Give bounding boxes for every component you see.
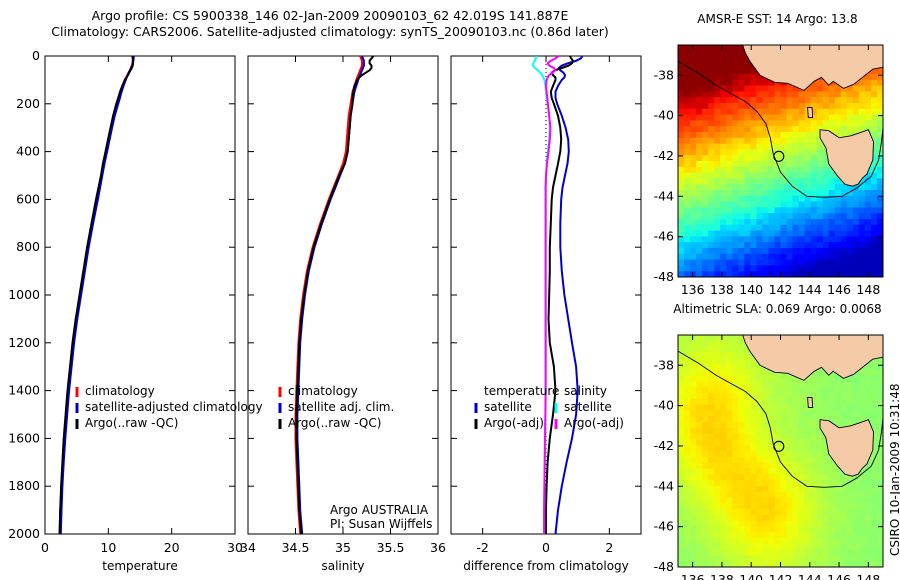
map-cell <box>799 149 806 155</box>
map-cell <box>835 381 842 387</box>
map-cell <box>678 213 685 219</box>
map-cell <box>787 149 794 155</box>
map-cell <box>774 422 781 428</box>
map-cell <box>829 207 836 213</box>
map-cell <box>720 410 727 416</box>
map-cell <box>762 497 769 503</box>
map-cell <box>865 86 872 92</box>
map-cell <box>756 439 763 445</box>
map-cell <box>781 544 788 550</box>
map-cell <box>738 144 745 150</box>
map-cell <box>720 370 727 376</box>
map-cell <box>841 109 848 115</box>
map-cell <box>774 242 781 248</box>
map-cell <box>853 231 860 237</box>
map-cell <box>829 474 836 480</box>
map-cell <box>762 219 769 225</box>
map-cell <box>841 207 848 213</box>
map-cell <box>690 474 697 480</box>
map-cell <box>799 178 806 184</box>
map-cell <box>732 126 739 132</box>
map-cell <box>732 538 739 544</box>
map-cell <box>714 225 721 231</box>
map-cell <box>702 428 709 434</box>
map-cell <box>787 219 794 225</box>
map-cell <box>720 474 727 480</box>
map-cell <box>841 544 848 550</box>
map-cell <box>762 532 769 538</box>
map-cell <box>726 399 733 405</box>
map-cell <box>696 202 703 208</box>
map-cell <box>805 144 812 150</box>
map-cell <box>678 219 685 225</box>
map-cell <box>696 492 703 498</box>
map-cell <box>768 161 775 167</box>
map-cell <box>811 509 818 515</box>
map-cell <box>714 352 721 358</box>
map-cell <box>793 225 800 231</box>
map-cell <box>859 231 866 237</box>
map-cell <box>750 399 757 405</box>
map-cell <box>865 538 872 544</box>
map-cell <box>781 97 788 103</box>
map-cell <box>720 335 727 341</box>
map-cell <box>787 439 794 445</box>
map-cell <box>708 550 715 556</box>
map-cell <box>744 515 751 521</box>
map-cell <box>738 376 745 382</box>
map-cell <box>811 184 818 190</box>
map-cell <box>793 120 800 126</box>
map-cell <box>871 376 878 382</box>
map-cell <box>787 265 794 271</box>
map-cell <box>768 480 775 486</box>
map-cell <box>696 457 703 463</box>
map-cell <box>744 364 751 370</box>
map-cell <box>738 173 745 179</box>
map-cell <box>750 538 757 544</box>
map-cell <box>793 492 800 498</box>
map-cell <box>793 393 800 399</box>
map-cell <box>793 428 800 434</box>
map-cell <box>696 532 703 538</box>
map-cell <box>799 399 806 405</box>
map-cell <box>865 370 872 376</box>
map-cell <box>696 347 703 353</box>
map-cell <box>750 376 757 382</box>
map-cell <box>702 260 709 266</box>
map-cell <box>805 538 812 544</box>
map-cell <box>768 167 775 173</box>
x-tick-label: 2 <box>605 540 613 555</box>
map-cell <box>690 202 697 208</box>
map-cell <box>756 381 763 387</box>
map-cell <box>744 242 751 248</box>
map-cell <box>835 120 842 126</box>
map-cell <box>690 370 697 376</box>
map-cell <box>696 550 703 556</box>
map-cell <box>835 521 842 527</box>
map-cell <box>708 51 715 57</box>
map-cell <box>720 254 727 260</box>
map-cell <box>835 254 842 260</box>
map-cell <box>817 109 824 115</box>
map-cell <box>714 254 721 260</box>
map-cell <box>793 126 800 132</box>
map-cell <box>787 434 794 440</box>
map-cell <box>678 254 685 260</box>
map-cell <box>853 248 860 254</box>
map-cell <box>823 555 830 561</box>
map-cell <box>684 521 691 527</box>
map-cell <box>684 463 691 469</box>
map-cell <box>859 405 866 411</box>
map-cell <box>714 97 721 103</box>
series-line-satellite-adj-clim- <box>297 56 364 534</box>
map-cell <box>708 376 715 382</box>
map-cell <box>678 434 685 440</box>
map-cell <box>714 103 721 109</box>
map-cell <box>859 115 866 121</box>
map-cell <box>859 544 866 550</box>
map-cell <box>859 410 866 416</box>
map-cell <box>708 341 715 347</box>
map-cell <box>744 532 751 538</box>
map-cell <box>781 532 788 538</box>
map-cell <box>793 515 800 521</box>
map-cell <box>732 173 739 179</box>
map-cell <box>762 509 769 515</box>
map-cell <box>793 381 800 387</box>
map-cell <box>696 91 703 97</box>
map-cell <box>817 474 824 480</box>
map-cell <box>835 405 842 411</box>
map-cell <box>702 387 709 393</box>
map-cell <box>871 393 878 399</box>
map-cell <box>799 144 806 150</box>
map-cell <box>726 358 733 364</box>
map-cell <box>793 144 800 150</box>
map-cell <box>817 393 824 399</box>
map-cell <box>762 138 769 144</box>
map-cell <box>768 213 775 219</box>
map-cell <box>702 68 709 74</box>
map-cell <box>805 463 812 469</box>
map-cell <box>750 144 757 150</box>
map-cell <box>732 155 739 161</box>
map-cell <box>756 416 763 422</box>
map-cell <box>774 393 781 399</box>
map-cell <box>690 91 697 97</box>
map-cell <box>768 103 775 109</box>
map-cell <box>756 393 763 399</box>
map-cell <box>702 509 709 515</box>
map-cell <box>805 173 812 179</box>
map-cell <box>787 550 794 556</box>
map-cell <box>738 242 745 248</box>
map-cell <box>853 393 860 399</box>
map-cell <box>841 503 848 509</box>
map-cell <box>756 410 763 416</box>
map-cell <box>805 387 812 393</box>
map-cell <box>871 550 878 556</box>
map-cell <box>744 492 751 498</box>
map-cell <box>762 439 769 445</box>
map-cell <box>823 178 830 184</box>
map-cell <box>750 364 757 370</box>
map-cell <box>732 109 739 115</box>
map-cell <box>787 161 794 167</box>
map-cell <box>799 265 806 271</box>
map-cell <box>702 434 709 440</box>
map-cell <box>744 184 751 190</box>
map-cell <box>690 161 697 167</box>
map-cell <box>847 242 854 248</box>
map-cell <box>829 225 836 231</box>
map-cell <box>774 86 781 92</box>
map-cell <box>696 213 703 219</box>
map-cell <box>708 457 715 463</box>
map-cell <box>805 149 812 155</box>
map-cell <box>799 236 806 242</box>
map-cell <box>847 399 854 405</box>
map-cell <box>817 103 824 109</box>
map-cell <box>835 219 842 225</box>
map-cell <box>793 463 800 469</box>
map-cell <box>774 486 781 492</box>
map-cell <box>720 149 727 155</box>
map-cell <box>853 219 860 225</box>
map-cell <box>744 399 751 405</box>
map-cell <box>756 86 763 92</box>
map-cell <box>678 45 685 51</box>
map-cell <box>829 555 836 561</box>
map-cell <box>811 544 818 550</box>
map-cell <box>865 509 872 515</box>
map-cell <box>762 149 769 155</box>
map-cell <box>853 515 860 521</box>
map-cell <box>787 387 794 393</box>
map-cell <box>793 97 800 103</box>
map-cell <box>774 196 781 202</box>
y-tick-label: 1000 <box>8 287 40 302</box>
map-cell <box>744 451 751 457</box>
map-cell <box>805 416 812 422</box>
map-cell <box>823 492 830 498</box>
map-cell <box>823 515 830 521</box>
map-cell <box>793 410 800 416</box>
map-cell <box>762 463 769 469</box>
map-cell <box>756 370 763 376</box>
map-cell <box>853 260 860 266</box>
map-cell <box>690 103 697 109</box>
map-cell <box>684 474 691 480</box>
map-cell <box>714 196 721 202</box>
map-cell <box>793 231 800 237</box>
map-cell <box>684 103 691 109</box>
map-cell <box>768 497 775 503</box>
map-cell <box>744 486 751 492</box>
map-cell <box>853 115 860 121</box>
map-cell <box>738 68 745 74</box>
map-cell <box>859 254 866 260</box>
map-cell <box>793 457 800 463</box>
map-cell <box>859 393 866 399</box>
map-cell <box>708 202 715 208</box>
map-cell <box>799 219 806 225</box>
map-cell <box>799 126 806 132</box>
map-cell <box>871 463 878 469</box>
map-cell <box>805 422 812 428</box>
map-cell <box>720 451 727 457</box>
map-cell <box>690 213 697 219</box>
map-cell <box>859 196 866 202</box>
map-cell <box>817 509 824 515</box>
map-cell <box>768 120 775 126</box>
map-cell <box>768 387 775 393</box>
map-cell <box>756 126 763 132</box>
map-cell <box>702 225 709 231</box>
map-cell <box>738 161 745 167</box>
map-cell <box>841 248 848 254</box>
map-cell <box>811 538 818 544</box>
map-cell <box>829 381 836 387</box>
map-cell <box>690 219 697 225</box>
map-cell <box>847 236 854 242</box>
map-cell <box>781 196 788 202</box>
map-cell <box>738 62 745 68</box>
map-cell <box>744 416 751 422</box>
map-cell <box>793 521 800 527</box>
x-tick-label: -2 <box>476 540 488 555</box>
map-cell <box>696 503 703 509</box>
map-cell <box>678 231 685 237</box>
y-tick-label: 800 <box>16 239 40 254</box>
map-cell <box>726 138 733 144</box>
map-cell <box>811 91 818 97</box>
map-cell <box>738 445 745 451</box>
map-cell <box>738 132 745 138</box>
map-cell <box>708 231 715 237</box>
map-cell <box>714 167 721 173</box>
map-cell <box>750 434 757 440</box>
map-cell <box>756 376 763 382</box>
map-cell <box>817 503 824 509</box>
map-cell <box>835 225 842 231</box>
map-cell <box>714 80 721 86</box>
map-cell <box>702 45 709 51</box>
map-cell <box>690 550 697 556</box>
map-cell <box>811 503 818 509</box>
map-cell <box>871 410 878 416</box>
map-cell <box>871 213 878 219</box>
map-cell <box>787 91 794 97</box>
map-cell <box>720 503 727 509</box>
figure-canvas: Argo profile: CS 5900338_146 02-Jan-2009… <box>0 0 900 580</box>
x-tick-label: 34.5 <box>282 540 310 555</box>
map-cell <box>793 555 800 561</box>
map-cell <box>829 115 836 121</box>
map-cell <box>871 202 878 208</box>
map-cell <box>702 231 709 237</box>
map-x-tick-label: 142 <box>769 282 793 297</box>
map-cell <box>702 492 709 498</box>
map-cell <box>714 341 721 347</box>
map-cell <box>726 213 733 219</box>
map-cell <box>732 428 739 434</box>
map-cell <box>847 260 854 266</box>
map-cell <box>756 91 763 97</box>
map-cell <box>702 526 709 532</box>
map-cell <box>774 225 781 231</box>
map-cell <box>817 120 824 126</box>
map-cell <box>720 532 727 538</box>
map-cell <box>865 550 872 556</box>
legend-label: Argo(-adj) <box>564 416 624 430</box>
map-cell <box>823 219 830 225</box>
map-cell <box>817 457 824 463</box>
map-cell <box>768 91 775 97</box>
map-cell <box>817 387 824 393</box>
map-cell <box>690 439 697 445</box>
map-cell <box>714 405 721 411</box>
map-cell <box>690 265 697 271</box>
map-cell <box>720 405 727 411</box>
map-cell <box>690 184 697 190</box>
map-cell <box>720 352 727 358</box>
map-cell <box>750 532 757 538</box>
map-cell <box>726 439 733 445</box>
map-cell <box>871 532 878 538</box>
map-cell <box>781 242 788 248</box>
map-cell <box>871 492 878 498</box>
map-cell <box>708 515 715 521</box>
map-cell <box>823 248 830 254</box>
map-cell <box>762 213 769 219</box>
map-cell <box>847 387 854 393</box>
map-cell <box>744 468 751 474</box>
map-cell <box>708 416 715 422</box>
map-cell <box>762 550 769 556</box>
map-cell <box>823 97 830 103</box>
map-cell <box>702 405 709 411</box>
map-cell <box>738 486 745 492</box>
map-cell <box>787 497 794 503</box>
map-cell <box>684 503 691 509</box>
map-cell <box>774 463 781 469</box>
map-cell <box>811 178 818 184</box>
map-cell <box>678 393 685 399</box>
map-cell <box>768 254 775 260</box>
map-cell <box>750 480 757 486</box>
map-cell <box>811 451 818 457</box>
map-cell <box>726 364 733 370</box>
map-cell <box>829 265 836 271</box>
map-cell <box>714 480 721 486</box>
map-cell <box>811 381 818 387</box>
map-cell <box>781 115 788 121</box>
map-cell <box>805 526 812 532</box>
map-cell <box>696 544 703 550</box>
map-cell <box>744 97 751 103</box>
map-cell <box>720 544 727 550</box>
map-cell <box>768 219 775 225</box>
map-cell <box>787 416 794 422</box>
map-cell <box>781 550 788 556</box>
map-cell <box>714 503 721 509</box>
y-tick-label: 2000 <box>8 526 40 541</box>
x-tick-label: 35.5 <box>377 540 405 555</box>
